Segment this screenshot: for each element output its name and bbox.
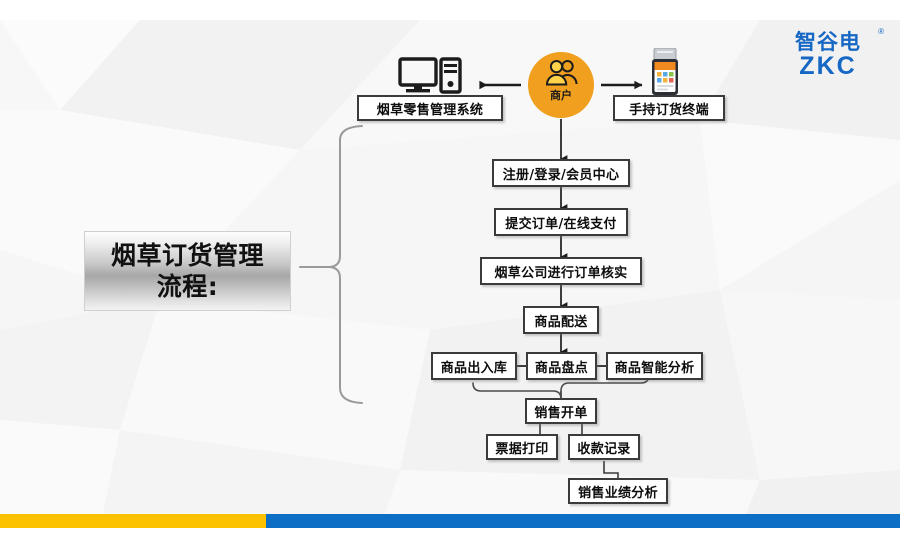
node-handheld-order-terminal[interactable]: 手持订货终端 (613, 95, 725, 121)
brand-name-cn: 智谷电 (774, 30, 882, 54)
node-goods-delivery-label: 商品配送 (534, 311, 587, 330)
node-goods-smart-analysis-label: 商品智能分析 (615, 357, 695, 376)
node-goods-delivery[interactable]: 商品配送 (523, 306, 599, 334)
node-receipt-print[interactable]: 票据打印 (486, 434, 558, 460)
users-icon (544, 60, 578, 86)
node-goods-inventory-count[interactable]: 商品盘点 (526, 352, 597, 380)
node-tobacco-company-verify-order-label: 烟草公司进行订单核实 (494, 262, 627, 281)
brand-logo: 智谷电 ZKC ® (774, 30, 882, 82)
handheld-pos-terminal-icon (650, 48, 680, 96)
background-bottom-strip (0, 528, 900, 550)
node-handheld-order-terminal-label: 手持订货终端 (629, 99, 709, 118)
node-sales-invoice-label: 销售开单 (534, 402, 587, 421)
brand-name-en: ZKC (774, 54, 882, 79)
node-receipt-print-label: 票据打印 (495, 438, 548, 457)
node-goods-inventory-count-label: 商品盘点 (535, 357, 588, 376)
registered-mark-icon: ® (878, 27, 884, 36)
node-sales-performance-analysis-label: 销售业绩分析 (578, 482, 658, 501)
page-title-line-2: 流程: (111, 271, 264, 302)
desktop-computer-icon (398, 56, 464, 96)
node-merchant[interactable]: 商户 (528, 52, 594, 118)
node-submit-order-online-pay[interactable]: 提交订单/在线支付 (494, 208, 628, 236)
node-payment-record-label: 收款记录 (577, 438, 630, 457)
node-sales-invoice[interactable]: 销售开单 (525, 398, 597, 424)
node-submit-order-online-pay-label: 提交订单/在线支付 (505, 213, 616, 232)
page-title-line-1: 烟草订货管理 (111, 240, 264, 271)
page-title: 烟草订货管理 流程: (84, 231, 291, 311)
node-payment-record[interactable]: 收款记录 (568, 434, 640, 460)
node-goods-smart-analysis[interactable]: 商品智能分析 (606, 352, 703, 380)
node-goods-stock-in-out-label: 商品出入库 (441, 357, 508, 376)
node-retail-management-system-label: 烟草零售管理系统 (377, 99, 483, 118)
node-sales-performance-analysis[interactable]: 销售业绩分析 (568, 478, 668, 504)
node-tobacco-company-verify-order[interactable]: 烟草公司进行订单核实 (480, 257, 642, 285)
footer-bar-blue (266, 514, 900, 528)
footer-bar-orange (0, 514, 266, 528)
node-register-login-member-label: 注册/登录/会员中心 (503, 164, 620, 183)
node-goods-stock-in-out[interactable]: 商品出入库 (431, 352, 517, 380)
node-register-login-member[interactable]: 注册/登录/会员中心 (492, 159, 630, 187)
slide-canvas: 智谷电 ZKC ® 烟草订货管理 流程: 烟草零售管理系统 (0, 0, 900, 550)
node-retail-management-system[interactable]: 烟草零售管理系统 (357, 95, 503, 121)
node-merchant-label: 商户 (550, 87, 572, 103)
page-title-text: 烟草订货管理 流程: (111, 240, 264, 302)
